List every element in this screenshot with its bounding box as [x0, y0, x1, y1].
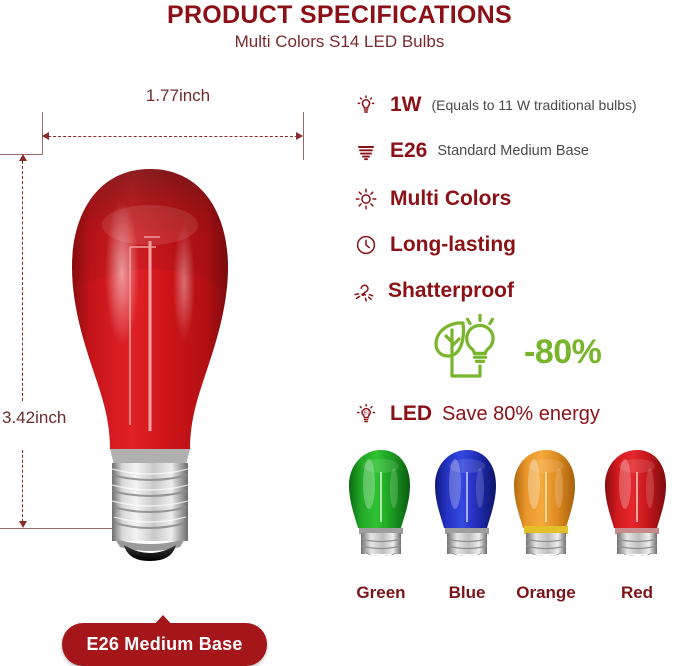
spec-key-base: E26: [390, 139, 427, 163]
spec-row-wattage: 1W (Equals to 11 W traditional bulbs): [352, 90, 637, 120]
led-bulb-icon: LED: [352, 400, 380, 428]
bulb-diagram-panel: 1.77inch 3.42inch: [0, 58, 335, 622]
page-subtitle: Multi Colors S14 LED Bulbs: [0, 30, 679, 54]
bulb-collar: [110, 449, 190, 465]
spec-row-lifespan: Long-lasting: [352, 230, 516, 260]
height-dimension-label: 3.42inch: [0, 406, 68, 430]
color-label-blue: Blue: [434, 583, 500, 603]
color-label-orange: Orange: [513, 583, 579, 603]
width-arrow-left: [42, 132, 49, 140]
width-dimension-label: 1.77inch: [118, 86, 238, 106]
energy-saving-badge: -80%: [428, 313, 628, 391]
spec-key-lifespan: Long-lasting: [390, 233, 516, 257]
bulb-highlight-top: [102, 205, 198, 245]
spec-row-shatterproof: Shatterproof: [350, 276, 514, 306]
spec-row-colors: Multi Colors: [352, 184, 511, 214]
height-arrow-top: [19, 154, 27, 161]
blue-bulb-image: [434, 448, 500, 556]
spec-value-led: Save 80% energy: [442, 403, 600, 426]
color-label-red: Red: [604, 583, 670, 603]
specs-panel: 1W (Equals to 11 W traditional bulbs) E2…: [340, 58, 679, 622]
bulb-screw-base: [112, 463, 188, 551]
color-option-red: Red: [604, 448, 670, 603]
spec-row-base: E26 Standard Medium Base: [352, 136, 589, 166]
height-arrow-bottom: [19, 521, 27, 528]
spec-key-wattage: 1W: [390, 93, 422, 117]
shatterproof-bulb-icon: [350, 277, 378, 305]
spec-row-led: LED LED Save 80% energy: [352, 399, 600, 429]
orange-bulb-image: [513, 448, 579, 556]
e26-callout-badge: E26 Medium Base: [62, 623, 267, 666]
spec-key-led: LED: [390, 402, 432, 426]
color-options-row: Green: [340, 448, 679, 622]
spec-key-shatterproof: Shatterproof: [388, 279, 514, 303]
color-label-green: Green: [348, 583, 414, 603]
page-title: PRODUCT SPECIFICATIONS: [0, 1, 679, 29]
clock-icon: [352, 231, 380, 259]
leaf-bulb-eco-icon: [428, 313, 528, 392]
spec-key-colors: Multi Colors: [390, 187, 511, 211]
energy-saving-percent: -80%: [524, 333, 601, 372]
red-bulb-image: [604, 448, 670, 556]
height-dimension-line-upper: [22, 161, 23, 401]
green-bulb-image: [348, 448, 414, 556]
e26-callout-label: E26 Medium Base: [86, 634, 242, 655]
bulb-highlight-right: [173, 225, 195, 341]
color-option-blue: Blue: [434, 448, 500, 603]
width-tick-right: [303, 112, 304, 160]
width-dimension-line: [48, 136, 298, 137]
spec-value-base: Standard Medium Base: [437, 143, 589, 159]
height-dimension-line-lower: [22, 450, 23, 522]
main-bulb-image: [60, 163, 240, 563]
sun-icon: [352, 185, 380, 213]
header: PRODUCT SPECIFICATIONS Multi Colors S14 …: [0, 0, 679, 54]
color-option-orange: Orange: [513, 448, 579, 603]
bulb-icon: [352, 91, 380, 119]
svg-text:LED: LED: [361, 410, 371, 416]
color-option-green: Green: [348, 448, 414, 603]
screw-base-icon: [352, 137, 380, 165]
product-spec-sheet: PRODUCT SPECIFICATIONS Multi Colors S14 …: [0, 0, 679, 622]
spec-value-wattage: (Equals to 11 W traditional bulbs): [432, 97, 637, 113]
width-arrow-right: [296, 132, 303, 140]
